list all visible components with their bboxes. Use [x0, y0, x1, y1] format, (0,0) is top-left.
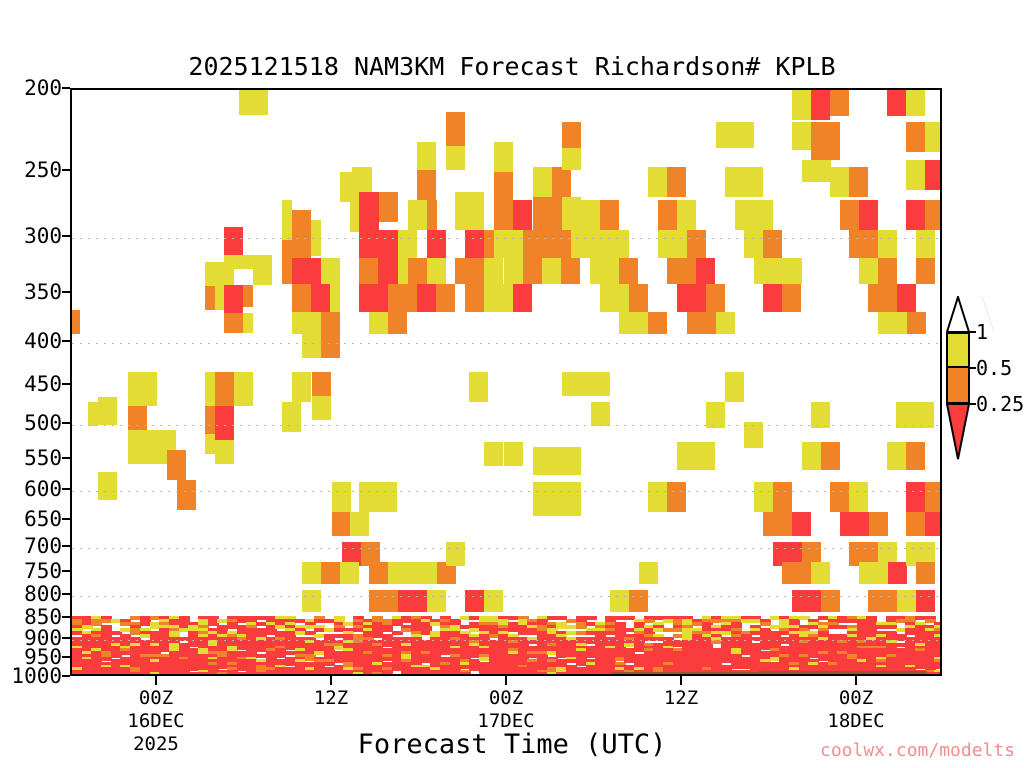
- heatmap-cell: [343, 675, 354, 676]
- heatmap-cell: [411, 675, 422, 676]
- y-tick-mark: [62, 593, 70, 595]
- y-tick-mark: [62, 87, 70, 89]
- heatmap-cell: [837, 675, 848, 676]
- heatmap-cell: [896, 675, 907, 676]
- heatmap-cell: [886, 675, 897, 676]
- colorbar-tick: [970, 367, 976, 369]
- heatmap-cell: [605, 675, 616, 676]
- y-tick-label: 1000: [11, 664, 62, 688]
- heatmap-cell: [295, 675, 306, 676]
- y-tick-mark: [62, 488, 70, 490]
- heatmap-cell: [702, 675, 713, 676]
- colorbar-label: 0.25: [976, 392, 1024, 416]
- heatmap-cell: [731, 675, 742, 676]
- heatmap-cell: [770, 675, 781, 676]
- y-tick-label: 700: [24, 534, 62, 558]
- colorbar-label: 0.5: [976, 356, 1012, 380]
- heatmap-cell: [653, 675, 664, 676]
- heatmap-cell: [120, 675, 131, 676]
- colorbar-tick: [970, 403, 976, 405]
- heatmap-cell: [489, 675, 500, 676]
- colorbar-segment-0.5-to-1: [946, 332, 970, 368]
- heatmap-cell: [130, 675, 141, 676]
- heatmap-cell: [760, 675, 771, 676]
- heatmap-cell: [82, 675, 93, 676]
- y-tick-mark: [62, 518, 70, 520]
- heatmap-cell: [208, 675, 219, 676]
- y-tick-mark: [62, 340, 70, 342]
- x-tick-label-line: 12Z: [271, 687, 391, 710]
- x-tick-label-line: 00Z: [96, 687, 216, 710]
- y-tick-label: 800: [24, 582, 62, 606]
- colorbar-bottom-arrow: [946, 404, 970, 460]
- y-tick-mark: [62, 383, 70, 385]
- y-tick-label: 250: [24, 158, 62, 182]
- y-tick-mark: [62, 457, 70, 459]
- heatmap-cell: [285, 675, 296, 676]
- heatmap-cell: [556, 675, 567, 676]
- terrain-band: [72, 90, 940, 674]
- heatmap-cell: [498, 675, 509, 676]
- x-tick-mark: [330, 676, 332, 685]
- heatmap-cell: [644, 675, 655, 676]
- heatmap-cell: [508, 675, 519, 676]
- heatmap-cell: [537, 675, 548, 676]
- y-tick-mark: [62, 675, 70, 677]
- heatmap-cell: [91, 675, 102, 676]
- heatmap-cell: [159, 675, 170, 676]
- y-axis: 2002503003504004505005506006507007508008…: [0, 0, 62, 768]
- y-tick-mark: [62, 616, 70, 618]
- heatmap-cell: [634, 675, 645, 676]
- x-tick-label: 00Z17DEC: [446, 687, 566, 733]
- x-tick-label-line: 12Z: [621, 687, 741, 710]
- heatmap-cell: [237, 675, 248, 676]
- heatmap-cell: [789, 675, 800, 676]
- y-tick-mark: [62, 169, 70, 171]
- heatmap-cell: [857, 675, 868, 676]
- x-tick-mark: [505, 676, 507, 685]
- heatmap-cell: [566, 675, 577, 676]
- heatmap-cell: [527, 675, 538, 676]
- heatmap-cell: [547, 675, 558, 676]
- heatmap-cell: [741, 675, 752, 676]
- watermark: coolwx.com/modelts: [820, 740, 1015, 761]
- y-tick-label: 750: [24, 559, 62, 583]
- y-tick-mark: [62, 637, 70, 639]
- y-tick-label: 650: [24, 507, 62, 531]
- y-tick-mark: [62, 656, 70, 658]
- heatmap-cell: [673, 675, 684, 676]
- heatmap-cell: [576, 675, 587, 676]
- heatmap-cell: [256, 675, 267, 676]
- heatmap-cell: [314, 675, 325, 676]
- heatmap-cell: [266, 675, 277, 676]
- heatmap-cell: [401, 675, 412, 676]
- heatmap-cell: [866, 675, 877, 676]
- heatmap-cell: [586, 675, 597, 676]
- x-tick-mark: [855, 676, 857, 685]
- heatmap-cell: [392, 675, 403, 676]
- heatmap-cell: [925, 675, 936, 676]
- heatmap-cell: [111, 675, 122, 676]
- heatmap-cell: [779, 675, 790, 676]
- y-tick-mark: [62, 422, 70, 424]
- heatmap-cell: [799, 675, 810, 676]
- y-tick-mark: [62, 570, 70, 572]
- heatmap-cell: [305, 675, 316, 676]
- x-tick-label: 00Z18DEC: [796, 687, 916, 733]
- y-tick-label: 450: [24, 372, 62, 396]
- x-tick-mark: [155, 676, 157, 685]
- heatmap-cell: [430, 675, 441, 676]
- terrain-segment: [927, 674, 942, 676]
- heatmap-cell: [750, 675, 761, 676]
- heatmap-cell: [382, 675, 393, 676]
- y-tick-label: 600: [24, 477, 62, 501]
- y-tick-label: 200: [24, 76, 62, 100]
- heatmap-cell: [275, 675, 286, 676]
- heatmap-cell: [246, 675, 257, 676]
- heatmap-cell: [198, 675, 209, 676]
- colorbar-label: 1: [976, 320, 988, 344]
- x-tick-label: 12Z: [271, 687, 391, 710]
- heatmap-cell: [440, 675, 451, 676]
- y-tick-label: 350: [24, 280, 62, 304]
- x-tick-label: 12Z: [621, 687, 741, 710]
- terrain-segment: [612, 672, 759, 676]
- heatmap-cell: [469, 675, 480, 676]
- heatmap-cell: [188, 675, 199, 676]
- terrain-segment: [320, 674, 612, 676]
- heatmap-cell: [179, 675, 190, 676]
- heatmap-cell: [479, 675, 490, 676]
- plot-area[interactable]: [70, 88, 942, 676]
- heatmap-cell: [101, 675, 112, 676]
- chart-page: 2025121518 NAM3KM Forecast Richardson# K…: [0, 0, 1024, 768]
- y-tick-label: 400: [24, 329, 62, 353]
- heatmap-cell: [334, 675, 345, 676]
- y-tick-label: 300: [24, 224, 62, 248]
- heatmap-cell: [663, 675, 674, 676]
- heatmap-cell: [692, 675, 703, 676]
- heatmap-cell: [72, 675, 83, 676]
- x-tick-label-line: 00Z: [796, 687, 916, 710]
- heatmap-cell: [818, 675, 829, 676]
- heatmap-cell: [363, 675, 374, 676]
- heatmap-cell: [905, 675, 916, 676]
- heatmap-cell: [450, 675, 461, 676]
- page-title: 2025121518 NAM3KM Forecast Richardson# K…: [0, 52, 1024, 81]
- heatmap-cell: [217, 675, 228, 676]
- heatmap-cell: [721, 675, 732, 676]
- y-tick-mark: [62, 545, 70, 547]
- heatmap-cell: [615, 675, 626, 676]
- heatmap-cell: [711, 675, 722, 676]
- heatmap-cell: [169, 675, 180, 676]
- heatmap-cell: [353, 675, 364, 676]
- heatmap-cell: [518, 675, 529, 676]
- heatmap-cell: [808, 675, 819, 676]
- x-tick-label-line: 00Z: [446, 687, 566, 710]
- heatmap-cell: [595, 675, 606, 676]
- heatmap-cell: [421, 675, 432, 676]
- x-tick-mark: [680, 676, 682, 685]
- heatmap-cell: [828, 675, 839, 676]
- heatmap-cell: [682, 675, 693, 676]
- heatmap-cell: [460, 675, 471, 676]
- heatmap-cell: [624, 675, 635, 676]
- terrain-segment: [759, 671, 927, 676]
- y-tick-label: 500: [24, 411, 62, 435]
- colorbar-segment-0.25-to-0.5: [946, 368, 970, 404]
- heatmap-cell: [140, 675, 151, 676]
- colorbar-legend: 10.50.25: [938, 296, 1024, 476]
- heatmap-cell: [934, 675, 942, 676]
- colorbar-top-arrow-outline: [946, 296, 970, 332]
- colorbar-tick: [970, 331, 976, 333]
- y-tick-label: 550: [24, 446, 62, 470]
- heatmap-cell: [372, 675, 383, 676]
- y-tick-mark: [62, 291, 70, 293]
- y-tick-mark: [62, 235, 70, 237]
